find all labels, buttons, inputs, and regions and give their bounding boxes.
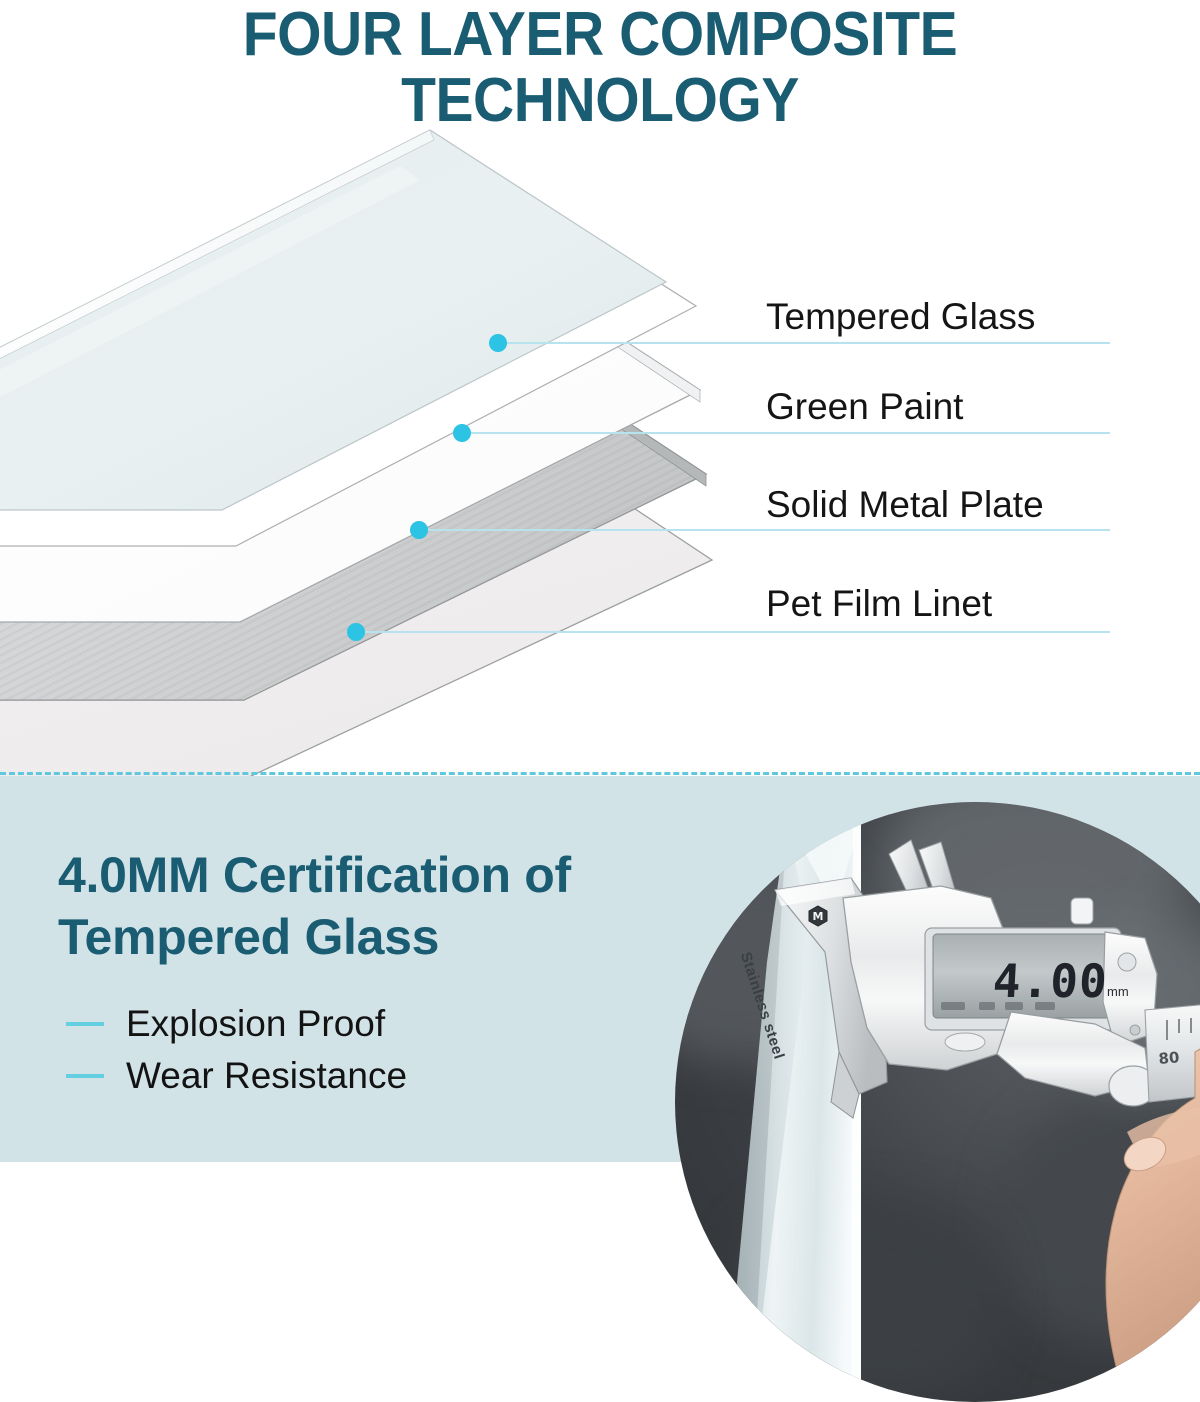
layer-label-solid-metal-plate: Solid Metal Plate bbox=[766, 484, 1044, 526]
digital-caliper: 80 90 100 bbox=[675, 802, 1200, 1402]
connector-dot-green-paint bbox=[453, 424, 471, 442]
caliper-photo: 80 90 100 4.00 mm M Stainless steel bbox=[675, 802, 1200, 1402]
certification-heading-line-2: Tempered Glass bbox=[58, 906, 758, 968]
dash-bullet-icon bbox=[66, 1074, 104, 1078]
lcd-value: 4.00 bbox=[992, 954, 1110, 1008]
layer-diagram: Tempered Glass Green Paint Solid Metal P… bbox=[0, 0, 1200, 778]
list-item: Explosion Proof bbox=[66, 998, 407, 1050]
list-item: Wear Resistance bbox=[66, 1050, 407, 1102]
layer-label-green-paint: Green Paint bbox=[766, 386, 963, 428]
feature-label: Wear Resistance bbox=[126, 1055, 407, 1097]
connector-dot-pet-film-linet bbox=[347, 623, 365, 641]
connector-line-solid-metal-plate bbox=[419, 529, 1110, 531]
connector-line-green-paint bbox=[462, 432, 1110, 434]
svg-text:M: M bbox=[813, 910, 824, 923]
section-divider bbox=[0, 772, 1200, 779]
dash-bullet-icon bbox=[66, 1022, 104, 1026]
brand-hexagon-icon: M bbox=[806, 904, 830, 928]
layer-stack-illustration bbox=[0, 0, 1200, 778]
lcd-unit: mm bbox=[1107, 984, 1129, 999]
layer-label-pet-film-linet: Pet Film Linet bbox=[766, 583, 992, 625]
feature-label: Explosion Proof bbox=[126, 1003, 385, 1045]
caliper-button bbox=[945, 1033, 985, 1051]
layer-label-tempered-glass: Tempered Glass bbox=[766, 296, 1035, 338]
svg-text:80: 80 bbox=[1158, 1048, 1180, 1068]
connector-line-pet-film-linet bbox=[356, 631, 1110, 633]
caliper-rail: 80 90 100 bbox=[1145, 998, 1200, 1102]
caliper-thumb-tab bbox=[1071, 898, 1093, 924]
certification-heading-line-1: 4.0MM Certification of bbox=[58, 844, 758, 906]
connector-dot-solid-metal-plate bbox=[410, 521, 428, 539]
connector-line-tempered-glass bbox=[498, 342, 1110, 344]
certification-heading: 4.0MM Certification of Tempered Glass bbox=[58, 844, 758, 968]
feature-list: Explosion Proof Wear Resistance bbox=[66, 998, 407, 1102]
connector-dot-tempered-glass bbox=[489, 334, 507, 352]
